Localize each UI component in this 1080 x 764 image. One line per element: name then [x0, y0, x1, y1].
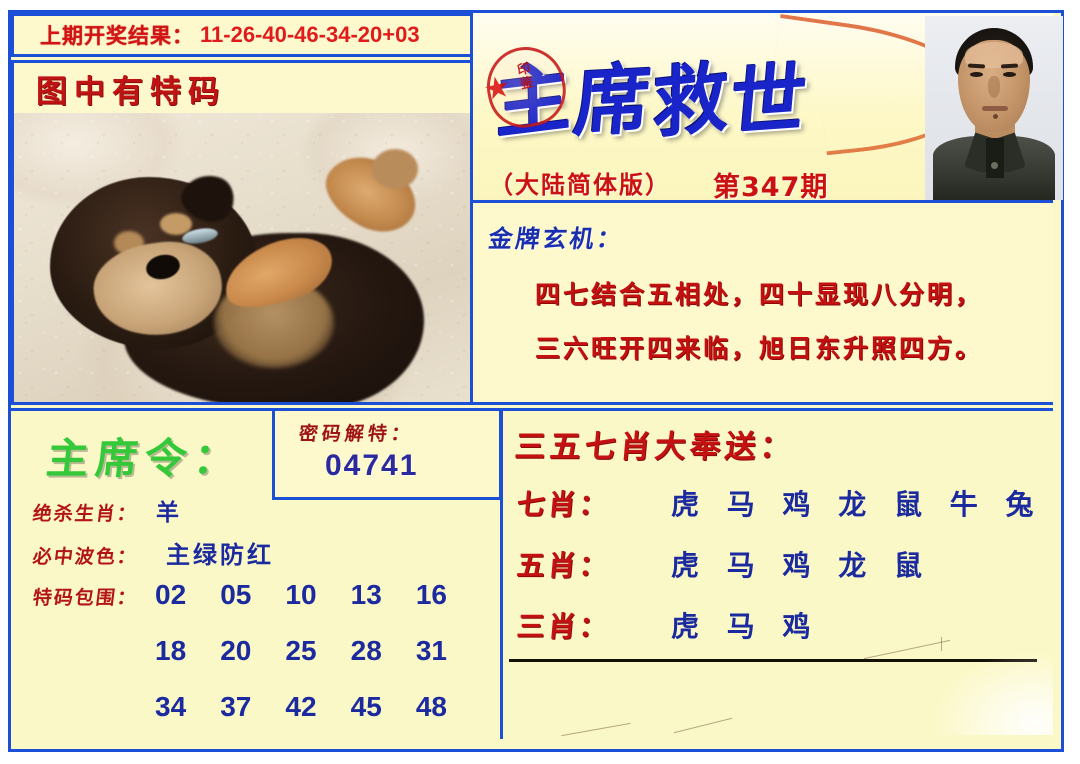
order-value-zodiac-kill: 羊	[156, 493, 182, 527]
seal-text: 印鉴	[511, 61, 535, 92]
number-cell: 45	[347, 691, 386, 723]
poster-root: 上期开奖结果： 11-26-40-46-34-20+03 图中有特码	[0, 0, 1080, 764]
number-cell: 16	[412, 579, 451, 611]
zodiac-key-three: 三肖：	[515, 605, 630, 645]
brand-char-4: 世	[726, 36, 812, 152]
portrait-mouth	[982, 106, 1008, 111]
zodiac-row-seven: 七肖： 虎 马 鸡 龙 鼠 牛 兔	[517, 483, 1043, 523]
number-cell: 42	[281, 691, 320, 723]
riddle-line-2: 三六旺开四来临，旭日东升照四方。	[535, 329, 983, 365]
number-cell: 37	[216, 691, 255, 723]
image-panel-title: 图中有特码	[14, 63, 472, 113]
number-row-1: 02 05 10 13 16	[151, 579, 451, 611]
zodiac-title: 三五七肖大奉送：	[513, 421, 797, 466]
secret-code-value: 04741	[325, 449, 418, 483]
number-cell: 18	[151, 635, 190, 667]
brand-char-2: 席	[570, 37, 656, 152]
portrait-mole	[993, 114, 998, 119]
portrait-button	[991, 162, 998, 169]
number-cell: 20	[216, 635, 255, 667]
number-cell: 34	[151, 691, 190, 723]
issue-number: 第347期	[713, 165, 828, 203]
zodiac-key-five: 五肖：	[515, 544, 630, 584]
number-cell: 02	[151, 579, 190, 611]
image-panel: 图中有特码	[11, 60, 475, 405]
zodiac-row-three: 三肖： 虎 马 鸡	[517, 605, 820, 645]
order-label-numbers: 特码包围：	[31, 583, 139, 610]
number-cell: 25	[281, 635, 320, 667]
secret-code-label: 密码解特：	[297, 419, 415, 446]
number-cell: 05	[216, 579, 255, 611]
brand-char-3: 救	[652, 35, 730, 154]
order-row-zodiac-kill: 绝杀生肖： 羊	[33, 493, 182, 527]
zodiac-value-three: 虎 马 鸡	[671, 605, 820, 645]
puppy-photo	[14, 113, 472, 402]
scratch-mark	[561, 723, 630, 736]
image-panel-title-text: 图中有特码	[36, 66, 226, 111]
secret-code-box: 密码解特： 04741	[272, 408, 502, 500]
portrait-shirt	[986, 138, 1004, 178]
riddle-panel: 金牌玄机： 四七结合五相处，四十显现八分明， 三六旺开四来临，旭日东升照四方。	[470, 203, 1053, 405]
portrait-eye-right	[1003, 72, 1016, 77]
last-draw-bar: 上期开奖结果： 11-26-40-46-34-20+03	[11, 13, 475, 57]
riddle-line-1: 四七结合五相处，四十显现八分明，	[535, 275, 983, 311]
zodiac-row-five: 五肖： 虎 马 鸡 龙 鼠	[517, 544, 931, 584]
puppy-paw-toes	[372, 149, 418, 189]
order-row-color: 必中波色： 主绿防红	[33, 535, 274, 570]
portrait-brow-left	[968, 64, 985, 69]
number-cell: 10	[281, 579, 320, 611]
star-icon: ★	[481, 72, 514, 107]
number-cell: 31	[412, 635, 451, 667]
number-cell: 13	[347, 579, 386, 611]
order-row-numbers: 特码包围：	[33, 583, 138, 610]
paper-glow	[933, 651, 1053, 735]
order-label-color: 必中波色：	[31, 542, 139, 569]
zodiac-panel: 三五七肖大奉送： 七肖： 虎 马 鸡 龙 鼠 牛 兔 五肖： 虎 马 鸡 龙 鼠…	[503, 408, 1053, 739]
zodiac-value-five: 虎 马 鸡 龙 鼠	[671, 544, 931, 584]
chairman-portrait	[925, 16, 1063, 200]
number-cell: 28	[347, 635, 386, 667]
edition-label: （大陆简体版）	[489, 165, 671, 200]
scratch-mark	[674, 718, 732, 733]
number-cell: 48	[412, 691, 451, 723]
last-draw-numbers: 11-26-40-46-34-20+03	[200, 22, 420, 48]
portrait-nose	[988, 76, 1000, 98]
number-row-2: 18 20 25 28 31	[151, 635, 451, 667]
order-value-color: 主绿防红	[166, 535, 274, 570]
order-title: 主席令：	[44, 425, 246, 486]
number-row-3: 34 37 42 45 48	[151, 691, 451, 723]
zodiac-key-seven: 七肖：	[515, 483, 630, 523]
zodiac-value-seven: 虎 马 鸡 龙 鼠 牛 兔	[671, 483, 1043, 523]
number-grid: 02 05 10 13 16 18 20 25 28 31 34 37 42 4…	[151, 579, 451, 747]
portrait-eye-left	[970, 72, 983, 77]
riddle-label: 金牌玄机：	[487, 219, 627, 254]
scratch-mark	[923, 637, 942, 651]
order-label-zodiac-kill: 绝杀生肖：	[31, 499, 139, 526]
last-draw-label: 上期开奖结果：	[40, 20, 194, 50]
